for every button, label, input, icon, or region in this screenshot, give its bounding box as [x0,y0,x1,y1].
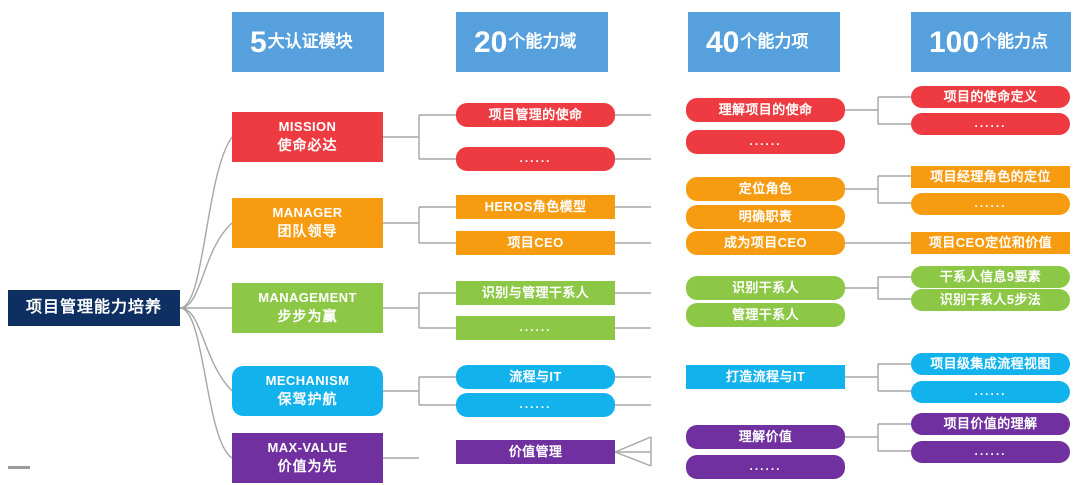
module-manager-en: MANAGER [273,206,343,221]
point-understanding-project-value[interactable]: 项目价值的理解 [911,413,1070,435]
item-label: 识别干系人 [732,281,799,296]
domain-identify-manage-stakeholders[interactable]: 识别与管理干系人 [456,281,615,305]
domain-label: ...... [519,152,551,166]
point-value-more[interactable]: ...... [911,441,1070,463]
item-manage-stakeholders[interactable]: 管理干系人 [686,303,845,327]
point-label: 项目级集成流程视图 [930,357,1051,372]
domain-label: 识别与管理干系人 [482,286,589,301]
point-project-level-integrated-process-view[interactable]: 项目级集成流程视图 [911,353,1070,375]
item-value-more[interactable]: ...... [686,455,845,479]
domain-label: HEROS角色模型 [485,200,587,215]
item-label: 成为项目CEO [724,236,807,251]
item-identify-stakeholders[interactable]: 识别干系人 [686,276,845,300]
domain-label: 项目CEO [507,236,563,251]
domain-label: 项目管理的使命 [489,108,583,123]
point-mission-more[interactable]: ...... [911,113,1070,135]
column-header-points-suffix: 个能力点 [980,32,1048,52]
module-max-value[interactable]: MAX-VALUE 价值为先 [232,433,383,483]
domain-mechanism-more[interactable]: ...... [456,393,615,417]
column-header-points-number: 100 [929,28,979,58]
domain-process-and-it[interactable]: 流程与IT [456,365,615,389]
point-label: 项目经理角色的定位 [930,170,1051,185]
item-label: 明确职责 [739,210,793,225]
domain-label: ...... [519,321,551,335]
point-label: ...... [974,117,1006,131]
point-stakeholder-info-9-elements[interactable]: 干系人信息9要素 [911,266,1070,288]
root-node[interactable]: 项目管理能力培养 [8,290,180,326]
item-label: 定位角色 [739,182,793,197]
point-manager-more[interactable]: ...... [911,193,1070,215]
point-label: 项目的使命定义 [944,90,1038,105]
item-label: 理解项目的使命 [719,103,813,118]
module-mechanism-en: MECHANISM [266,374,350,389]
domain-project-management-mission[interactable]: 项目管理的使命 [456,103,615,127]
item-label: 理解价值 [739,430,793,445]
root-node-label: 项目管理能力培养 [26,299,162,317]
point-label: 项目价值的理解 [944,417,1038,432]
module-manager-cn: 团队领导 [278,223,338,239]
module-manager[interactable]: MANAGER 团队领导 [232,198,383,248]
module-management[interactable]: MANAGEMENT 步步为赢 [232,283,383,333]
column-header-points: 100个能力点 [911,12,1071,72]
module-management-en: MANAGEMENT [258,291,357,306]
item-position-role[interactable]: 定位角色 [686,177,845,201]
point-label: ...... [974,445,1006,459]
domain-heros-role-model[interactable]: HEROS角色模型 [456,195,615,219]
point-label: 识别干系人5步法 [940,293,1041,308]
domain-label: 流程与IT [509,370,562,385]
item-clarify-responsibility[interactable]: 明确职责 [686,205,845,229]
item-label: 打造流程与IT [726,370,805,385]
domain-value-management[interactable]: 价值管理 [456,440,615,464]
column-header-items: 40个能力项 [688,12,840,72]
footer-dash-mark [8,466,30,469]
domain-label: 价值管理 [509,445,563,460]
module-management-cn: 步步为赢 [278,308,338,324]
point-label: ...... [974,197,1006,211]
column-header-items-number: 40 [706,28,739,58]
domain-project-ceo[interactable]: 项目CEO [456,231,615,255]
point-project-mission-definition[interactable]: 项目的使命定义 [911,86,1070,108]
item-label: ...... [749,135,781,149]
item-become-project-ceo[interactable]: 成为项目CEO [686,231,845,255]
item-understand-project-mission[interactable]: 理解项目的使命 [686,98,845,122]
point-label: 项目CEO定位和价值 [929,236,1052,251]
item-label: 管理干系人 [732,308,799,323]
column-header-modules-number: 5 [250,28,267,58]
point-mechanism-more[interactable]: ...... [911,381,1070,403]
module-max-value-en: MAX-VALUE [268,441,348,456]
module-mechanism-cn: 保驾护航 [278,391,338,407]
point-project-ceo-positioning-and-value[interactable]: 项目CEO定位和价值 [911,232,1070,254]
item-build-process-and-it[interactable]: 打造流程与IT [686,365,845,389]
point-label: ...... [974,385,1006,399]
module-mission-en: MISSION [279,120,337,135]
point-identify-stakeholders-5-steps[interactable]: 识别干系人5步法 [911,289,1070,311]
column-header-items-suffix: 个能力项 [740,32,808,52]
diagram-canvas: 5大认证模块 20个能力域 40个能力项 100个能力点 项目管理能力培养 MI… [0,0,1080,485]
column-header-modules-suffix: 大认证模块 [268,32,353,52]
domain-label: ...... [519,398,551,412]
module-mission-cn: 使命必达 [278,137,338,153]
column-header-domains-suffix: 个能力域 [508,32,576,52]
domain-management-more[interactable]: ...... [456,316,615,340]
module-max-value-cn: 价值为先 [278,458,338,474]
item-label: ...... [749,460,781,474]
module-mission[interactable]: MISSION 使命必达 [232,112,383,162]
item-understand-value[interactable]: 理解价值 [686,425,845,449]
domain-mission-more[interactable]: ...... [456,147,615,171]
module-mechanism[interactable]: MECHANISM 保驾护航 [232,366,383,416]
column-header-modules: 5大认证模块 [232,12,384,72]
item-mission-more[interactable]: ...... [686,130,845,154]
point-project-manager-role-positioning[interactable]: 项目经理角色的定位 [911,166,1070,188]
column-header-domains-number: 20 [474,28,507,58]
point-label: 干系人信息9要素 [940,270,1041,285]
column-header-domains: 20个能力域 [456,12,608,72]
